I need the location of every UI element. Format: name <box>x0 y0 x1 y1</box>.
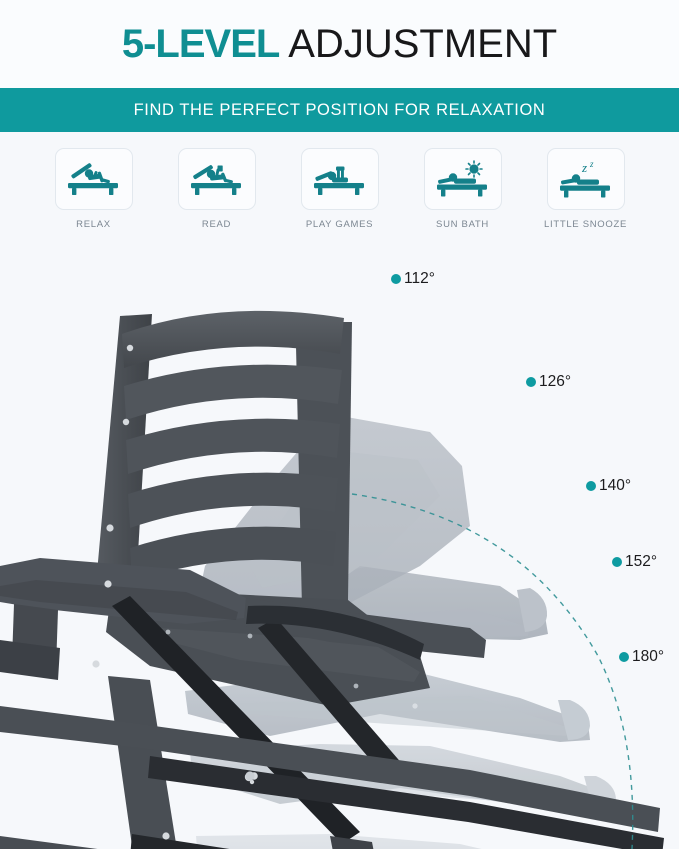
angle-dot-140 <box>586 481 596 491</box>
svg-text:z: z <box>581 160 587 175</box>
angle-label-140: 140° <box>599 477 631 495</box>
feature-icon-box <box>55 148 133 210</box>
angle-dot-126 <box>526 377 536 387</box>
feature-icon-box: z z <box>547 148 625 210</box>
svg-text:z: z <box>589 160 594 169</box>
feature-label: READ <box>202 219 231 230</box>
subtitle-bar: FIND THE PERFECT POSITION FOR RELAXATION <box>0 88 679 132</box>
person-gaming-chaise-icon <box>312 161 368 197</box>
angle-dot-180 <box>619 652 629 662</box>
feature-label: PLAY GAMES <box>306 219 373 230</box>
person-reclining-chaise-icon <box>66 161 122 197</box>
angle-label-112: 112° <box>404 270 435 288</box>
feature-icon-box <box>178 148 256 210</box>
chaise-lounge-dark <box>0 311 668 849</box>
page-title: 5-LEVEL ADJUSTMENT <box>122 24 557 64</box>
angle-dot-112 <box>391 274 401 284</box>
angle-label-180: 180° <box>632 648 664 666</box>
feature-icon-strip: RELAX <box>0 140 679 240</box>
feature-icon-box <box>301 148 379 210</box>
feature-card-relax: RELAX <box>55 148 133 230</box>
angle-label-126: 126° <box>539 373 571 391</box>
subtitle-text: FIND THE PERFECT POSITION FOR RELAXATION <box>134 101 546 120</box>
feature-label: SUN BATH <box>436 219 489 230</box>
title-main: ADJUSTMENT <box>279 22 557 66</box>
feature-icon-box <box>424 148 502 210</box>
feature-label: RELAX <box>76 219 111 230</box>
title-accent: 5-LEVEL <box>122 22 279 66</box>
feature-card-read: READ <box>178 148 256 230</box>
feature-label: LITTLE SNOOZE <box>544 219 627 230</box>
person-reading-chaise-icon <box>189 161 245 197</box>
feature-card-play-games: PLAY GAMES <box>301 148 379 230</box>
header-banner: 5-LEVEL ADJUSTMENT <box>0 0 679 88</box>
angle-label-152: 152° <box>625 553 657 571</box>
person-sleeping-chaise-icon: z z <box>557 160 615 198</box>
feature-card-little-snooze: z z LITTLE SNOOZE <box>547 148 625 230</box>
person-sunbathing-chaise-icon <box>435 160 491 198</box>
product-illustration: 112° 126° 140° 152° 180° <box>0 236 679 849</box>
infographic-page: 5-LEVEL ADJUSTMENT FIND THE PERFECT POSI… <box>0 0 679 849</box>
angle-dot-152 <box>612 557 622 567</box>
feature-card-sun-bath: SUN BATH <box>424 148 502 230</box>
